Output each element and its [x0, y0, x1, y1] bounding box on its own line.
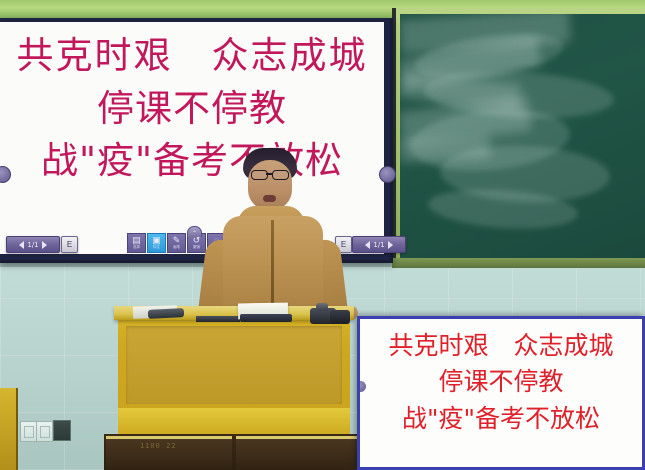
screenshot-stage: 共克时艰 众志成城 停课不停教 战"疫"备考不放松 1/1 E E 1/1 ▤ …	[0, 0, 645, 470]
undo-tool-label: 撤销	[193, 246, 200, 250]
wall-outlet	[36, 421, 53, 442]
green-chalkboard	[400, 14, 645, 258]
picture-in-picture-slide[interactable]: 共克时艰 众志成城 停课不停教 战"疫"备考不放松	[357, 316, 645, 470]
whiteboard-left-nav[interactable]: 1/1	[6, 236, 60, 253]
glasses-right-lens-icon	[272, 170, 289, 180]
glasses-bridge-icon	[266, 173, 272, 175]
highlight-icon: ▣	[152, 236, 161, 245]
pip-line-2: 停课不停教	[360, 364, 642, 400]
left-corner-button[interactable]: E	[61, 236, 78, 253]
whiteboard-right-handle[interactable]	[379, 166, 396, 183]
highlight-tool-button[interactable]: ▣ 标注	[147, 233, 166, 253]
prev-page-icon[interactable]	[19, 241, 24, 249]
left-page-indicator: 1/1	[27, 241, 38, 249]
teacher-face	[248, 160, 292, 210]
whiteboard-right-nav[interactable]: 1/1	[352, 236, 406, 253]
wall-outlet-dark	[53, 420, 71, 441]
small-device	[330, 310, 350, 324]
slide-line-2: 停课不停教	[0, 83, 384, 136]
marker-strip	[196, 316, 240, 322]
select-tool-button[interactable]: ▤ 选择	[127, 233, 146, 253]
select-tool-label: 选择	[133, 246, 140, 250]
glasses-left-lens-icon	[251, 170, 268, 180]
student-desk	[236, 436, 368, 470]
pen-icon: ✎	[173, 236, 181, 245]
chalkboard-tray	[392, 258, 645, 268]
pen-tool-button[interactable]: ✎ 画笔	[167, 233, 186, 253]
select-icon: ▤	[132, 236, 141, 245]
teacher-figure	[200, 148, 350, 320]
next-page-icon[interactable]	[388, 241, 393, 249]
podium-base	[118, 408, 350, 436]
teacher-mouth	[263, 195, 276, 202]
pip-line-1: 共克时艰 众志成城	[360, 328, 642, 364]
remote-control	[148, 308, 184, 319]
next-page-icon[interactable]	[42, 241, 47, 249]
right-page-indicator: 1/1	[373, 241, 384, 249]
prev-page-icon[interactable]	[365, 241, 370, 249]
desk-front-label: 1100 22	[140, 442, 177, 450]
pip-text-block: 共克时艰 众志成城 停课不停教 战"疫"备考不放松	[360, 319, 642, 437]
jacket-zipper	[271, 220, 274, 312]
highlight-tool-label: 标注	[153, 246, 160, 250]
chalk-smudge	[400, 136, 491, 163]
side-desk	[0, 388, 18, 470]
book-shadow	[240, 314, 292, 322]
podium-front-panel	[126, 326, 342, 404]
slide-line-1: 共克时艰 众志成城	[0, 30, 384, 83]
pen-tool-label: 画笔	[173, 246, 180, 250]
wall-outlet	[20, 421, 37, 442]
pip-line-3: 战"疫"备考不放松	[360, 401, 642, 437]
